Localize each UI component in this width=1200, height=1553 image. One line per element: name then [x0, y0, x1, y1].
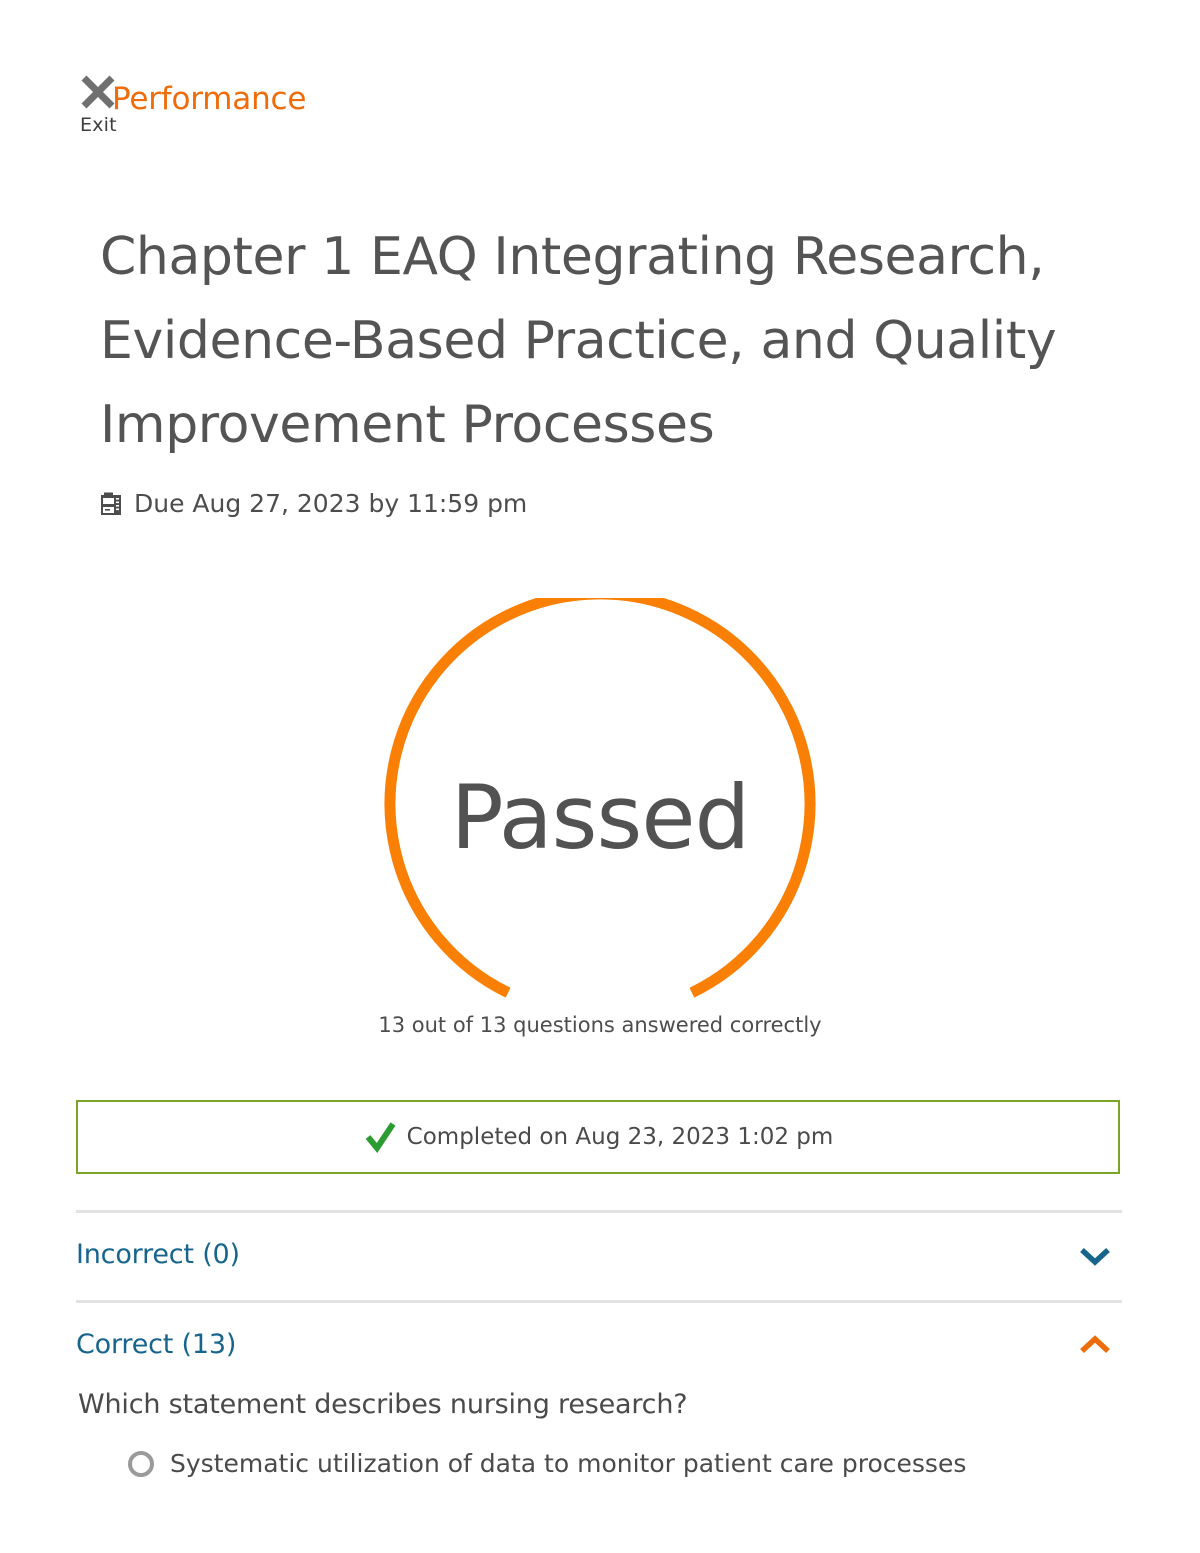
radio-unselected-icon[interactable]	[128, 1451, 154, 1477]
gauge-status-label: Passed	[380, 598, 820, 1038]
completion-text: Completed on Aug 23, 2023 1:02 pm	[407, 1123, 834, 1151]
assignment-header: Chapter 1 EAQ Integrating Research, Evid…	[100, 215, 1060, 519]
chevron-up-icon[interactable]	[1078, 1334, 1112, 1356]
app-title: Performance	[112, 80, 306, 118]
accordion-header-correct[interactable]: Correct (13)	[76, 1303, 1122, 1387]
page-title: Chapter 1 EAQ Integrating Research, Evid…	[100, 215, 1060, 467]
green-check-icon	[363, 1120, 397, 1154]
completion-banner: Completed on Aug 23, 2023 1:02 pm	[76, 1100, 1120, 1174]
choice-label: Systematic utilization of data to monito…	[170, 1448, 966, 1480]
question-block: Which statement describes nursing resear…	[78, 1388, 1118, 1480]
accordion-incorrect: Incorrect (0)	[76, 1210, 1122, 1297]
score-gauge: Passed	[380, 598, 820, 1038]
chevron-down-icon[interactable]	[1078, 1244, 1112, 1266]
top-bar: Exit Performance	[0, 0, 1200, 160]
due-date-row: Due Aug 27, 2023 by 11:59 pm	[100, 489, 1060, 519]
accordion-label-correct: Correct (13)	[76, 1328, 236, 1362]
accordion-correct: Correct (13)	[76, 1300, 1122, 1387]
clipboard-icon	[100, 492, 122, 516]
accordion-label-incorrect: Incorrect (0)	[76, 1238, 240, 1272]
score-gauge-section: Passed 13 out of 13 questions answered c…	[0, 598, 1200, 1038]
due-date-text: Due Aug 27, 2023 by 11:59 pm	[134, 489, 527, 519]
accordion-header-incorrect[interactable]: Incorrect (0)	[76, 1213, 1122, 1297]
choice-row[interactable]: Systematic utilization of data to monito…	[128, 1448, 1118, 1480]
question-prompt: Which statement describes nursing resear…	[78, 1388, 1118, 1422]
